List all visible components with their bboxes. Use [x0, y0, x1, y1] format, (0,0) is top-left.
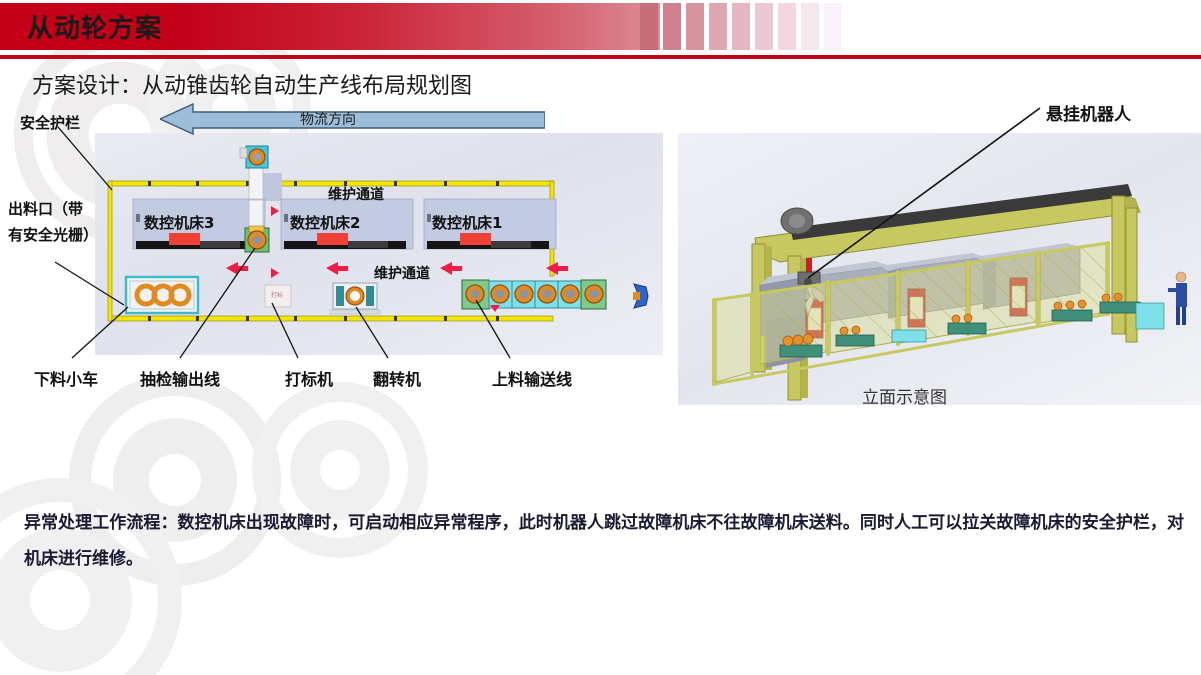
maintenance-corridor-bottom-label: 维护通道: [374, 263, 430, 283]
callout-marking-machine: 打标机: [285, 366, 333, 390]
header-decorative-bars: [640, 3, 910, 50]
header-band: [0, 3, 1201, 50]
header-bar-7: [778, 3, 796, 50]
callout-discharge-port-line1: 出料口（带: [8, 198, 83, 219]
callout-unload-cart: 下料小车: [34, 366, 98, 390]
page-title: 从动轮方案: [27, 8, 162, 45]
header-bar-3: [686, 3, 704, 50]
maintenance-corridor-top-label: 维护通道: [328, 184, 384, 204]
section-subtitle: 方案设计：从动锥齿轮自动生产线布局规划图: [32, 68, 472, 100]
header-bar-8: [801, 3, 819, 50]
callout-feed-conveyor-line: 上料输送线: [492, 366, 572, 390]
header-bar-4: [709, 3, 727, 50]
suspended-robot-label: 悬挂机器人: [1046, 100, 1131, 125]
header-bar-2: [663, 3, 681, 50]
header-bar-5: [732, 3, 750, 50]
logistics-direction-label: 物流方向: [300, 109, 356, 129]
header-bar-1: [640, 3, 658, 50]
header-bar-9: [824, 3, 842, 50]
cnc-machine-3-label: 数控机床3: [144, 212, 214, 233]
callout-sampling-output-line: 抽检输出线: [140, 366, 220, 390]
cnc-machine-2-label: 数控机床2: [290, 212, 360, 233]
callout-discharge-port-line2: 有安全光栅）: [8, 224, 98, 245]
callout-turnover-machine: 翻转机: [373, 366, 421, 390]
callout-safety-fence: 安全护栏: [20, 112, 80, 133]
header-bar-6: [755, 3, 773, 50]
cnc-machine-1-label: 数控机床1: [432, 212, 502, 233]
elevation-caption: 立面示意图: [862, 383, 947, 408]
header-rule: [0, 55, 1201, 59]
elevation-render-panel: [678, 133, 1201, 405]
layout-diagram-panel: [95, 133, 663, 355]
process-description-paragraph: 异常处理工作流程：数控机床出现故障时，可启动相应异常程序，此时机器人跳过故障机床…: [24, 505, 1184, 577]
